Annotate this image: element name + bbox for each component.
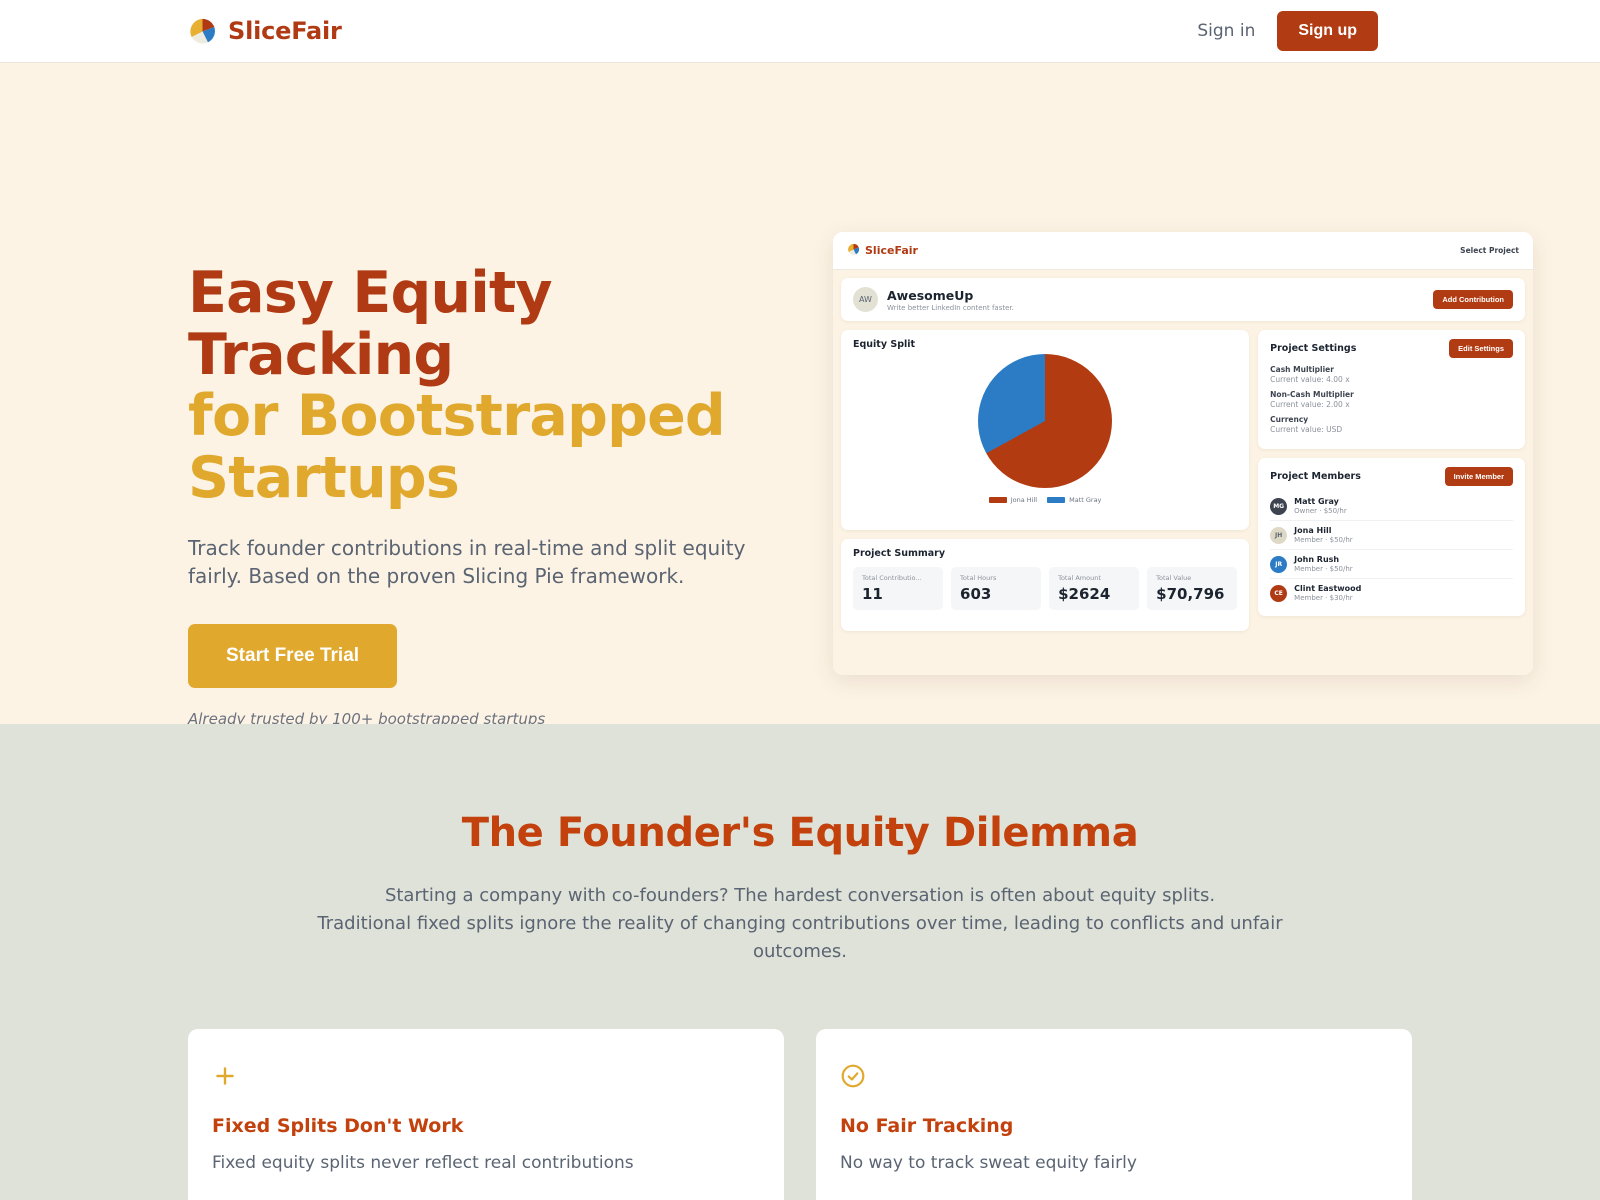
problem-card-body: No way to track sweat equity fairly [840,1153,1388,1173]
member-name: Clint Eastwood [1294,584,1361,593]
setting-value: Current value: USD [1270,425,1513,434]
brand-logo-link[interactable]: SliceFair [188,17,342,46]
dashboard-topbar: SliceFair Select Project [833,232,1533,270]
problem-card-body: Fixed equity splits never reflect real c… [212,1153,760,1173]
project-name: AwesomeUp [887,288,1014,303]
hero-section: Easy Equity Tracking for Bootstrapped St… [0,63,1600,724]
top-navbar: SliceFair Sign in Sign up [0,0,1600,63]
member-row[interactable]: JHJona HillMember · $50/hr [1270,520,1513,549]
avatar: JR [1270,556,1287,573]
hero-subtitle: Track founder contributions in real-time… [188,535,758,590]
setting-key: Currency [1270,415,1513,424]
sign-up-button[interactable]: Sign up [1277,11,1378,51]
project-identity: AW AwesomeUp Write better LinkedIn conte… [853,287,1014,312]
project-header-card: AW AwesomeUp Write better LinkedIn conte… [841,278,1525,321]
problem-heading: The Founder's Equity Dilemma [0,810,1600,856]
trusted-note: Already trusted by 100+ bootstrapped sta… [188,710,760,724]
summary-stat-label: Total Contributio... [862,574,934,582]
avatar: MG [1270,498,1287,515]
member-row[interactable]: CEClint EastwoodMember · $30/hr [1270,578,1513,607]
summary-stat-value: $70,796 [1156,585,1228,603]
setting-value: Current value: 4.00 x [1270,375,1513,384]
member-role: Owner · $50/hr [1294,507,1347,515]
problem-card-title: No Fair Tracking [840,1115,1388,1137]
member-name: Jona Hill [1294,526,1353,535]
avatar: CE [1270,585,1287,602]
edit-settings-button[interactable]: Edit Settings [1449,339,1513,358]
pie-chart-legend: Jona HillMatt Gray [989,496,1102,504]
dashboard-brand-name: SliceFair [865,244,918,257]
project-description: Write better LinkedIn content faster. [887,304,1014,312]
problem-card: Fixed Splits Don't WorkFixed equity spli… [188,1029,784,1200]
project-members-list: MGMatt GrayOwner · $50/hrJHJona HillMemb… [1270,492,1513,607]
problem-card-title: Fixed Splits Don't Work [212,1115,760,1137]
summary-stat: Total Hours603 [951,567,1041,610]
member-name: John Rush [1294,555,1353,564]
summary-stats-row: Total Contributio...11Total Hours603Tota… [853,567,1237,610]
project-summary-title: Project Summary [853,548,1237,559]
summary-stat: Total Amount$2624 [1049,567,1139,610]
sign-in-link[interactable]: Sign in [1197,21,1255,41]
hero-title-line-2: for Bootstrapped [188,386,760,448]
check-circle-icon [840,1063,1388,1093]
problem-card: No Fair TrackingNo way to track sweat eq… [816,1029,1412,1200]
member-role: Member · $50/hr [1294,565,1353,573]
pie-chart-logo-icon [847,241,860,260]
avatar: JH [1270,527,1287,544]
setting-row: Cash MultiplierCurrent value: 4.00 x [1270,365,1513,384]
member-row[interactable]: JRJohn RushMember · $50/hr [1270,549,1513,578]
equity-split-title: Equity Split [853,339,1237,350]
member-role: Member · $50/hr [1294,536,1353,544]
nav-actions: Sign in Sign up [1197,11,1378,51]
legend-item[interactable]: Jona Hill [989,496,1037,504]
project-members-title: Project Members [1270,471,1361,482]
problem-section: The Founder's Equity Dilemma Starting a … [0,724,1600,1200]
legend-swatch [989,497,1007,503]
summary-stat-value: $2624 [1058,585,1130,603]
invite-member-button[interactable]: Invite Member [1445,467,1513,486]
summary-stat-label: Total Value [1156,574,1228,582]
project-members-card: Project Members Invite Member MGMatt Gra… [1258,458,1525,616]
problem-cards-grid: Fixed Splits Don't WorkFixed equity spli… [0,1029,1600,1200]
setting-key: Cash Multiplier [1270,365,1513,374]
hero-title-line-3: Startups [188,448,760,510]
legend-label: Matt Gray [1069,496,1101,504]
setting-value: Current value: 2.00 x [1270,400,1513,409]
summary-stat-label: Total Hours [960,574,1032,582]
problem-lead-line-2: Traditional fixed splits ignore the real… [300,910,1300,966]
problem-lead-line-1: Starting a company with co-founders? The… [300,882,1300,910]
project-settings-card: Project Settings Edit Settings Cash Mult… [1258,330,1525,449]
project-settings-rows: Cash MultiplierCurrent value: 4.00 xNon-… [1270,365,1513,434]
member-name: Matt Gray [1294,497,1347,506]
start-free-trial-button[interactable]: Start Free Trial [188,624,397,688]
page-title: Easy Equity Tracking for Bootstrapped St… [188,263,760,509]
summary-stat-value: 11 [862,585,934,603]
project-summary-card: Project Summary Total Contributio...11To… [841,539,1249,631]
add-contribution-button[interactable]: Add Contribution [1433,290,1513,309]
legend-item[interactable]: Matt Gray [1047,496,1101,504]
summary-stat-value: 603 [960,585,1032,603]
summary-stat: Total Value$70,796 [1147,567,1237,610]
member-row[interactable]: MGMatt GrayOwner · $50/hr [1270,492,1513,520]
dashboard-preview: SliceFair Select Project AW AwesomeUp Wr… [833,232,1533,675]
summary-stat-label: Total Amount [1058,574,1130,582]
hero-title-line-1: Easy Equity Tracking [188,263,760,386]
pie-chart-graphic [978,354,1112,488]
setting-row: Non-Cash MultiplierCurrent value: 2.00 x [1270,390,1513,409]
equity-pie-chart: Jona HillMatt Gray [853,354,1237,504]
summary-stat: Total Contributio...11 [853,567,943,610]
select-project-dropdown[interactable]: Select Project [1460,246,1519,255]
member-role: Member · $30/hr [1294,594,1361,602]
project-avatar: AW [853,287,878,312]
equity-split-card: Equity Split Jona HillMatt Gray [841,330,1249,530]
setting-row: CurrencyCurrent value: USD [1270,415,1513,434]
pie-chart-logo-icon [188,17,217,46]
plus-icon [212,1063,760,1093]
legend-label: Jona Hill [1011,496,1037,504]
setting-key: Non-Cash Multiplier [1270,390,1513,399]
dashboard-brand: SliceFair [847,241,918,260]
dashboard-body: AW AwesomeUp Write better LinkedIn conte… [833,270,1533,675]
hero-copy: Easy Equity Tracking for Bootstrapped St… [100,63,760,724]
project-settings-title: Project Settings [1270,343,1356,354]
legend-swatch [1047,497,1065,503]
brand-name: SliceFair [228,17,342,45]
